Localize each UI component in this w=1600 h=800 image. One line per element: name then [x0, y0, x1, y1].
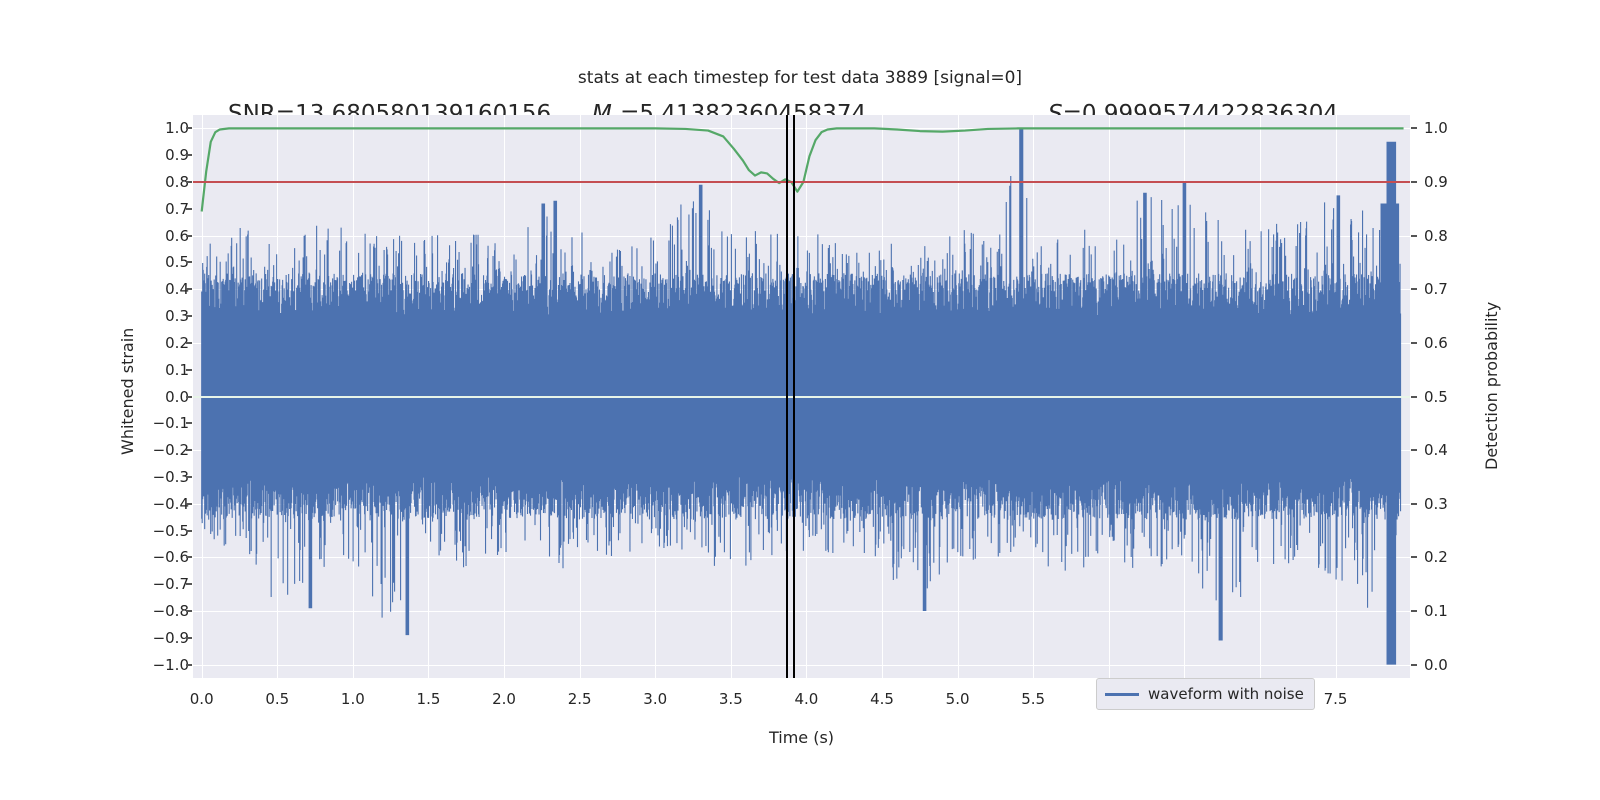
y-tick-label-right: 0.9 — [1424, 173, 1448, 191]
y-tick-mark-left — [186, 154, 192, 156]
y-tick-label-right: 0.6 — [1424, 334, 1448, 352]
y-tick-label-right: 0.2 — [1424, 548, 1448, 566]
y-tick-mark-left — [186, 288, 192, 290]
x-tick-label: 3.5 — [719, 690, 743, 708]
x-axis-label: Time (s) — [193, 728, 1410, 747]
x-tick-label: 2.5 — [568, 690, 592, 708]
y-tick-mark-right — [1411, 235, 1417, 237]
y-tick-label-left: −0.1 — [153, 414, 189, 432]
y-tick-label-right: 0.0 — [1424, 656, 1448, 674]
y-tick-mark-left — [186, 369, 192, 371]
y-tick-mark-right — [1411, 449, 1417, 451]
x-tick-label: 5.5 — [1021, 690, 1045, 708]
y-tick-label-right: 0.5 — [1424, 388, 1448, 406]
y-tick-mark-right — [1411, 556, 1417, 558]
y-tick-mark-left — [186, 315, 192, 317]
y-tick-label-right: 1.0 — [1424, 119, 1448, 137]
y-tick-mark-left — [186, 208, 192, 210]
y-tick-label-left: −0.4 — [153, 495, 189, 513]
y-tick-label-left: −1.0 — [153, 656, 189, 674]
x-tick-label: 2.0 — [492, 690, 516, 708]
y-tick-label-left: −0.2 — [153, 441, 189, 459]
y-tick-mark-left — [186, 503, 192, 505]
zero-strain-line — [193, 396, 1410, 398]
x-tick-label: 1.0 — [341, 690, 365, 708]
y-tick-mark-right — [1411, 127, 1417, 129]
legend-swatch-waveform-icon — [1105, 693, 1139, 696]
x-tick-label: 4.0 — [794, 690, 818, 708]
y-tick-mark-left — [186, 235, 192, 237]
x-tick-label: 4.5 — [870, 690, 894, 708]
x-tick-label: 0.0 — [190, 690, 214, 708]
y-tick-mark-left — [186, 476, 192, 478]
y-tick-mark-left — [186, 583, 192, 585]
y-tick-label-left: −0.3 — [153, 468, 189, 486]
y-tick-mark-right — [1411, 503, 1417, 505]
x-tick-label: 1.5 — [417, 690, 441, 708]
y-tick-mark-left — [186, 530, 192, 532]
y-tick-mark-right — [1411, 396, 1417, 398]
y-tick-mark-right — [1411, 288, 1417, 290]
y-tick-label-left: −0.9 — [153, 629, 189, 647]
legend[interactable]: waveform with noise — [1096, 678, 1315, 710]
x-tick-label: 0.5 — [265, 690, 289, 708]
y-tick-label-left: −0.6 — [153, 548, 189, 566]
y-tick-mark-left — [186, 422, 192, 424]
y-tick-mark-left — [186, 396, 192, 398]
merger-marker-line-1 — [786, 115, 788, 678]
y-tick-label-right: 0.1 — [1424, 602, 1448, 620]
legend-label-waveform: waveform with noise — [1148, 685, 1304, 703]
y-tick-mark-left — [186, 127, 192, 129]
plot-area — [193, 115, 1410, 678]
y-tick-label-right: 0.7 — [1424, 280, 1448, 298]
y-tick-label-left: −0.8 — [153, 602, 189, 620]
y-tick-label-left: −0.5 — [153, 522, 189, 540]
y-tick-label-left: −0.7 — [153, 575, 189, 593]
y-axis-label-right: Detection probability — [1482, 302, 1501, 470]
y-tick-mark-left — [186, 610, 192, 612]
chart-title: stats at each timestep for test data 388… — [0, 68, 1600, 88]
y-tick-label-right: 0.4 — [1424, 441, 1448, 459]
overlay-layer — [193, 115, 1410, 678]
y-tick-mark-left — [186, 449, 192, 451]
figure-canvas: stats at each timestep for test data 388… — [0, 0, 1600, 800]
y-axis-label-left: Whitened strain — [118, 328, 137, 455]
y-tick-mark-left — [186, 664, 192, 666]
x-tick-label: 3.0 — [643, 690, 667, 708]
y-tick-mark-left — [186, 261, 192, 263]
y-tick-mark-left — [186, 637, 192, 639]
threshold-line — [193, 181, 1410, 183]
merger-marker-line-2 — [793, 115, 795, 678]
y-tick-mark-right — [1411, 342, 1417, 344]
y-tick-mark-left — [186, 342, 192, 344]
x-tick-label: 5.0 — [946, 690, 970, 708]
y-tick-mark-left — [186, 556, 192, 558]
y-tick-label-right: 0.8 — [1424, 227, 1448, 245]
y-tick-mark-right — [1411, 610, 1417, 612]
y-tick-mark-right — [1411, 181, 1417, 183]
x-tick-label: 7.5 — [1324, 690, 1348, 708]
y-tick-label-right: 0.3 — [1424, 495, 1448, 513]
y-tick-mark-left — [186, 181, 192, 183]
y-tick-mark-right — [1411, 664, 1417, 666]
